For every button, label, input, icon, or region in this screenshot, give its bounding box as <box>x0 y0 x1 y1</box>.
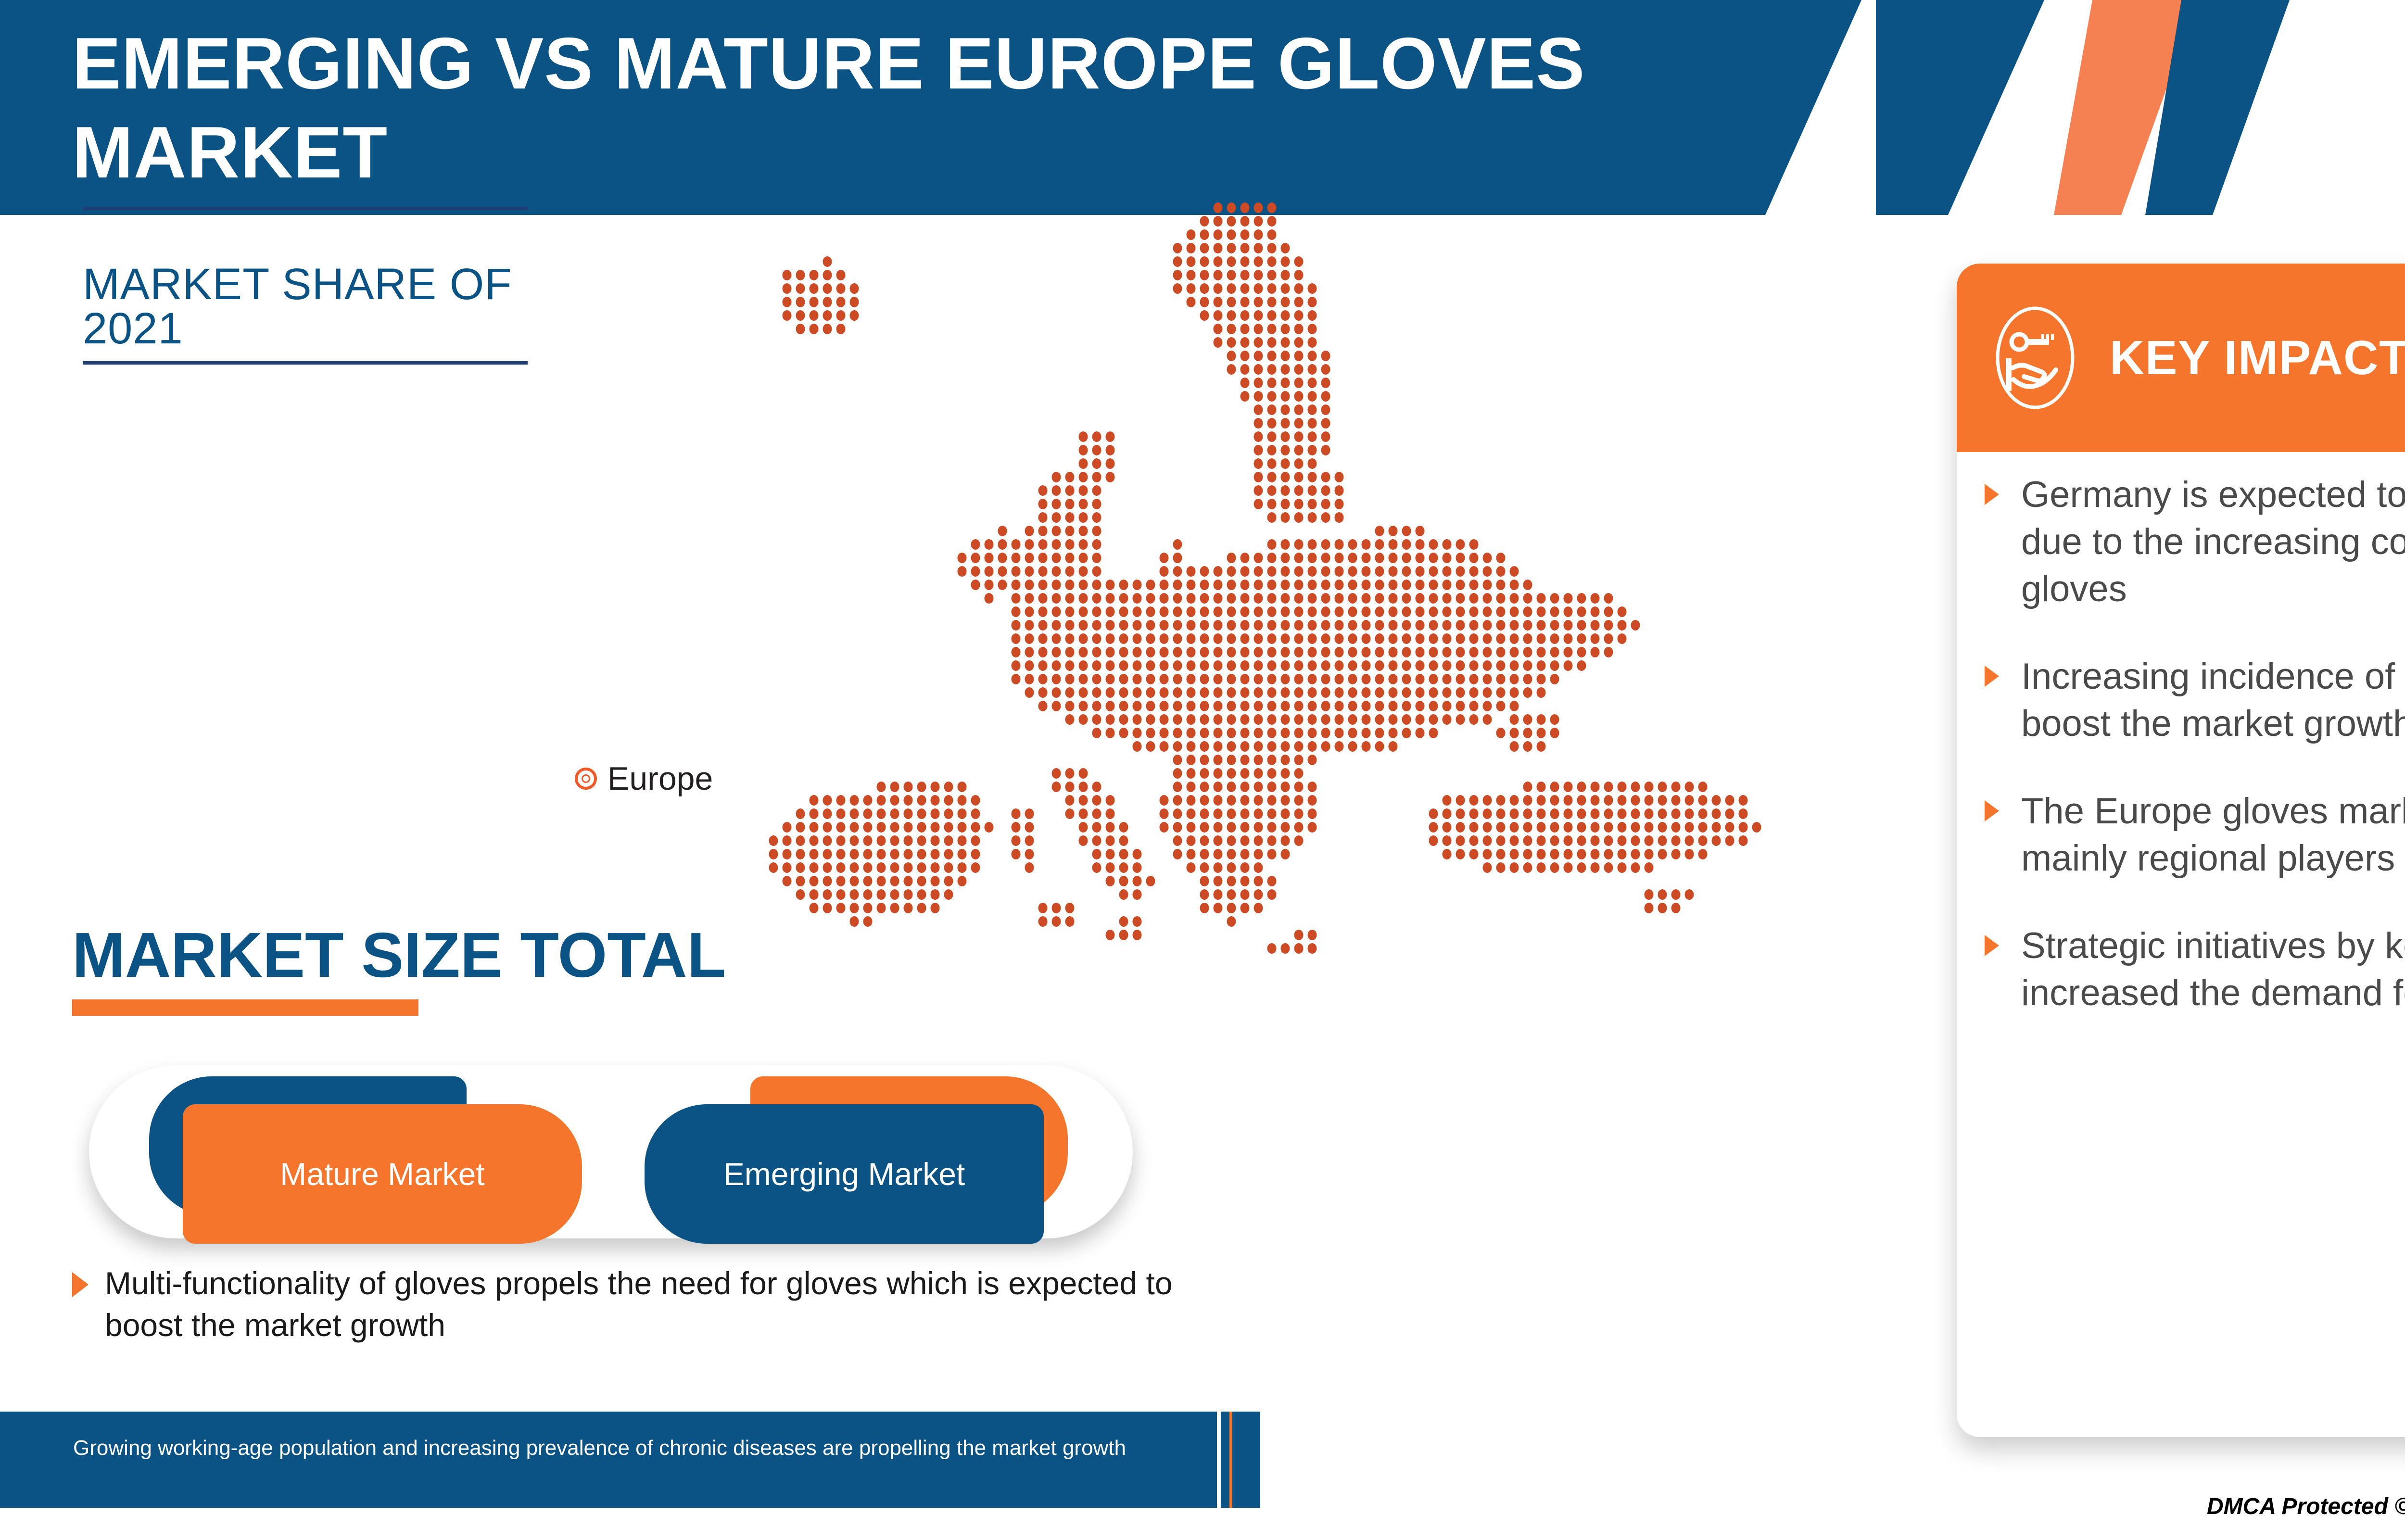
footer-divider-orange <box>1229 1412 1232 1508</box>
list-item: Strategic initiatives by key market play… <box>1985 922 2405 1017</box>
list-item-text: Germany is expected to lead Europe glove… <box>2021 471 2405 613</box>
list-item-text: The Europe gloves market is highly compe… <box>2021 788 2405 882</box>
market-size-title: MARKET SIZE TOTAL <box>72 923 842 987</box>
header-stripe-navy-1 <box>1876 0 2044 215</box>
target-ring-icon <box>575 768 597 790</box>
slide-root: EMERGING VS MATURE EUROPE GLOVES MARKET … <box>0 0 2405 1540</box>
triangle-bullet-icon <box>1985 484 1999 505</box>
map-legend-label: Europe <box>608 760 713 797</box>
list-item: Germany is expected to lead Europe glove… <box>1985 471 2405 613</box>
map-legend-europe: Europe <box>575 760 713 797</box>
pill-mature-market[interactable]: Mature Market <box>149 1087 630 1226</box>
triangle-bullet-icon <box>72 1272 89 1297</box>
pill-emerging-label[interactable]: Emerging Market <box>645 1104 1044 1244</box>
pill-emerging-market[interactable]: Emerging Market <box>645 1087 1140 1226</box>
left-bullet-item: Multi-functionality of gloves propels th… <box>72 1262 1241 1346</box>
market-size-block: MARKET SIZE TOTAL <box>72 923 842 1016</box>
market-size-rule <box>72 999 418 1016</box>
key-impacting-factors-panel: KEY IMPACTING FACTORS Germany is expecte… <box>1957 264 2405 1437</box>
market-share-label: MARKET SHARE OF 2021 <box>83 262 535 351</box>
list-item-text: Strategic initiatives by key market play… <box>2021 922 2405 1017</box>
footer-divider-white <box>1217 1412 1221 1508</box>
europe-dot-map <box>741 202 1905 1077</box>
triangle-bullet-icon <box>1985 666 1999 687</box>
page-title: EMERGING VS MATURE EUROPE GLOVES MARKET <box>72 19 1683 198</box>
list-item-text: Increasing incidence of chronic diseases… <box>2021 653 2405 747</box>
market-share-rule <box>83 361 528 365</box>
market-share-block: MARKET SHARE OF 2021 <box>83 262 535 365</box>
hand-holding-key-icon <box>1985 306 2086 410</box>
market-share-rule-top <box>83 207 528 210</box>
list-item: The Europe gloves market is highly compe… <box>1985 788 2405 882</box>
key-factors-title: KEY IMPACTING FACTORS <box>2110 330 2405 386</box>
footer-text: Growing working-age population and incre… <box>73 1433 1175 1463</box>
key-factors-header: KEY IMPACTING FACTORS <box>1957 264 2405 452</box>
copyright-notice: DMCA Protected © DataBridge <box>2207 1493 2405 1520</box>
key-factors-list: Germany is expected to lead Europe glove… <box>1985 471 2405 1057</box>
left-bullet-text: Multi-functionality of gloves propels th… <box>105 1262 1241 1346</box>
triangle-bullet-icon <box>1985 800 1999 821</box>
list-item: Increasing incidence of chronic diseases… <box>1985 653 2405 747</box>
triangle-bullet-icon <box>1985 935 1999 956</box>
pill-mature-label[interactable]: Mature Market <box>183 1104 582 1244</box>
